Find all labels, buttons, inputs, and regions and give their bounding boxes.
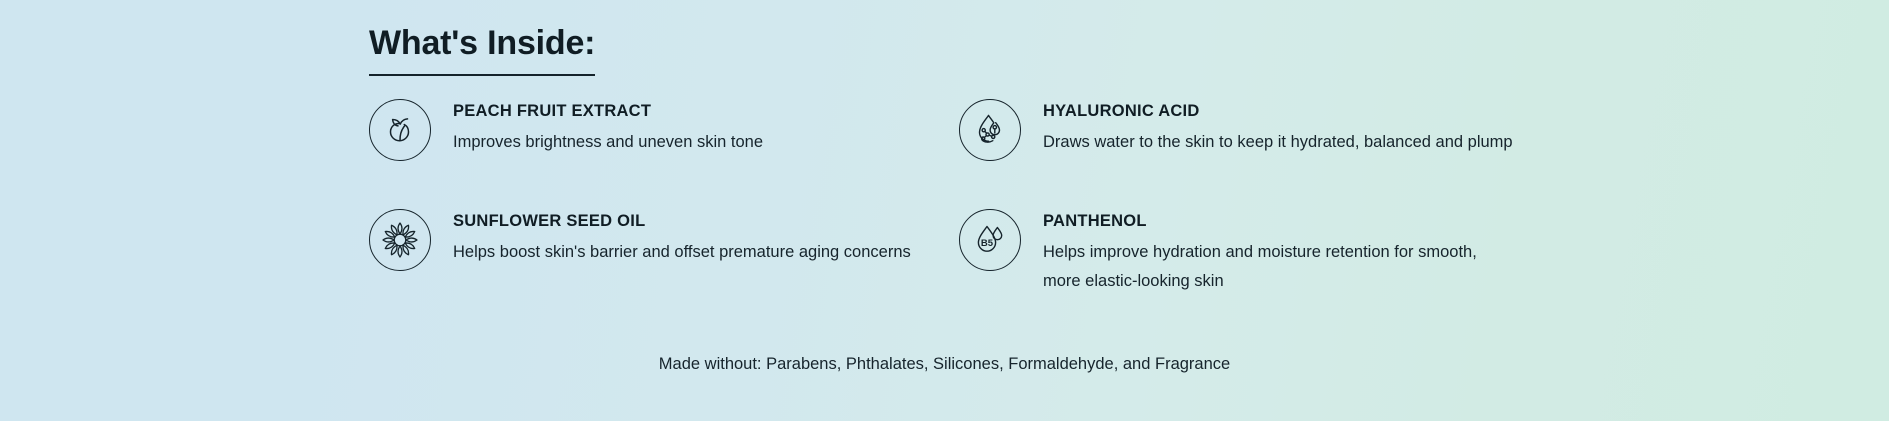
b5-droplet-icon: B5 (959, 209, 1021, 271)
ingredient-item: SUNFLOWER SEED OIL Helps boost skin's ba… (369, 208, 959, 318)
peach-icon (369, 99, 431, 161)
hyaluronic-acid-droplet-molecule-icon (959, 99, 1021, 161)
ingredient-text: SUNFLOWER SEED OIL Helps boost skin's ba… (453, 208, 911, 267)
b5-icon-label: B5 (981, 238, 994, 249)
ingredient-title: SUNFLOWER SEED OIL (453, 212, 911, 232)
ingredient-item: B5 PANTHENOL Helps improve hydration and… (959, 208, 1519, 318)
ingredient-description: Improves brightness and uneven skin tone (453, 128, 763, 157)
made-without-note: Made without: Parabens, Phthalates, Sili… (0, 352, 1889, 377)
ingredient-description: Helps improve hydration and moisture ret… (1043, 238, 1513, 296)
ingredient-title: PANTHENOL (1043, 212, 1513, 232)
ingredient-title: PEACH FRUIT EXTRACT (453, 102, 763, 122)
ingredient-description: Helps boost skin's barrier and offset pr… (453, 238, 911, 267)
page-title: What's Inside: (369, 22, 595, 76)
ingredient-item: PEACH FRUIT EXTRACT Improves brightness … (369, 98, 959, 208)
ingredient-title: HYALURONIC ACID (1043, 102, 1513, 122)
ingredient-text: PEACH FRUIT EXTRACT Improves brightness … (453, 98, 763, 157)
ingredient-text: PANTHENOL Helps improve hydration and mo… (1043, 208, 1513, 296)
section-heading-wrapper: What's Inside: (369, 22, 595, 76)
sunflower-icon (369, 209, 431, 271)
ingredients-grid: PEACH FRUIT EXTRACT Improves brightness … (369, 98, 1519, 318)
ingredient-item: HYALURONIC ACID Draws water to the skin … (959, 98, 1519, 208)
whats-inside-section: What's Inside: PEACH FRUIT EXTRACT Impro… (0, 0, 1889, 421)
ingredient-text: HYALURONIC ACID Draws water to the skin … (1043, 98, 1513, 157)
ingredient-description: Draws water to the skin to keep it hydra… (1043, 128, 1513, 157)
